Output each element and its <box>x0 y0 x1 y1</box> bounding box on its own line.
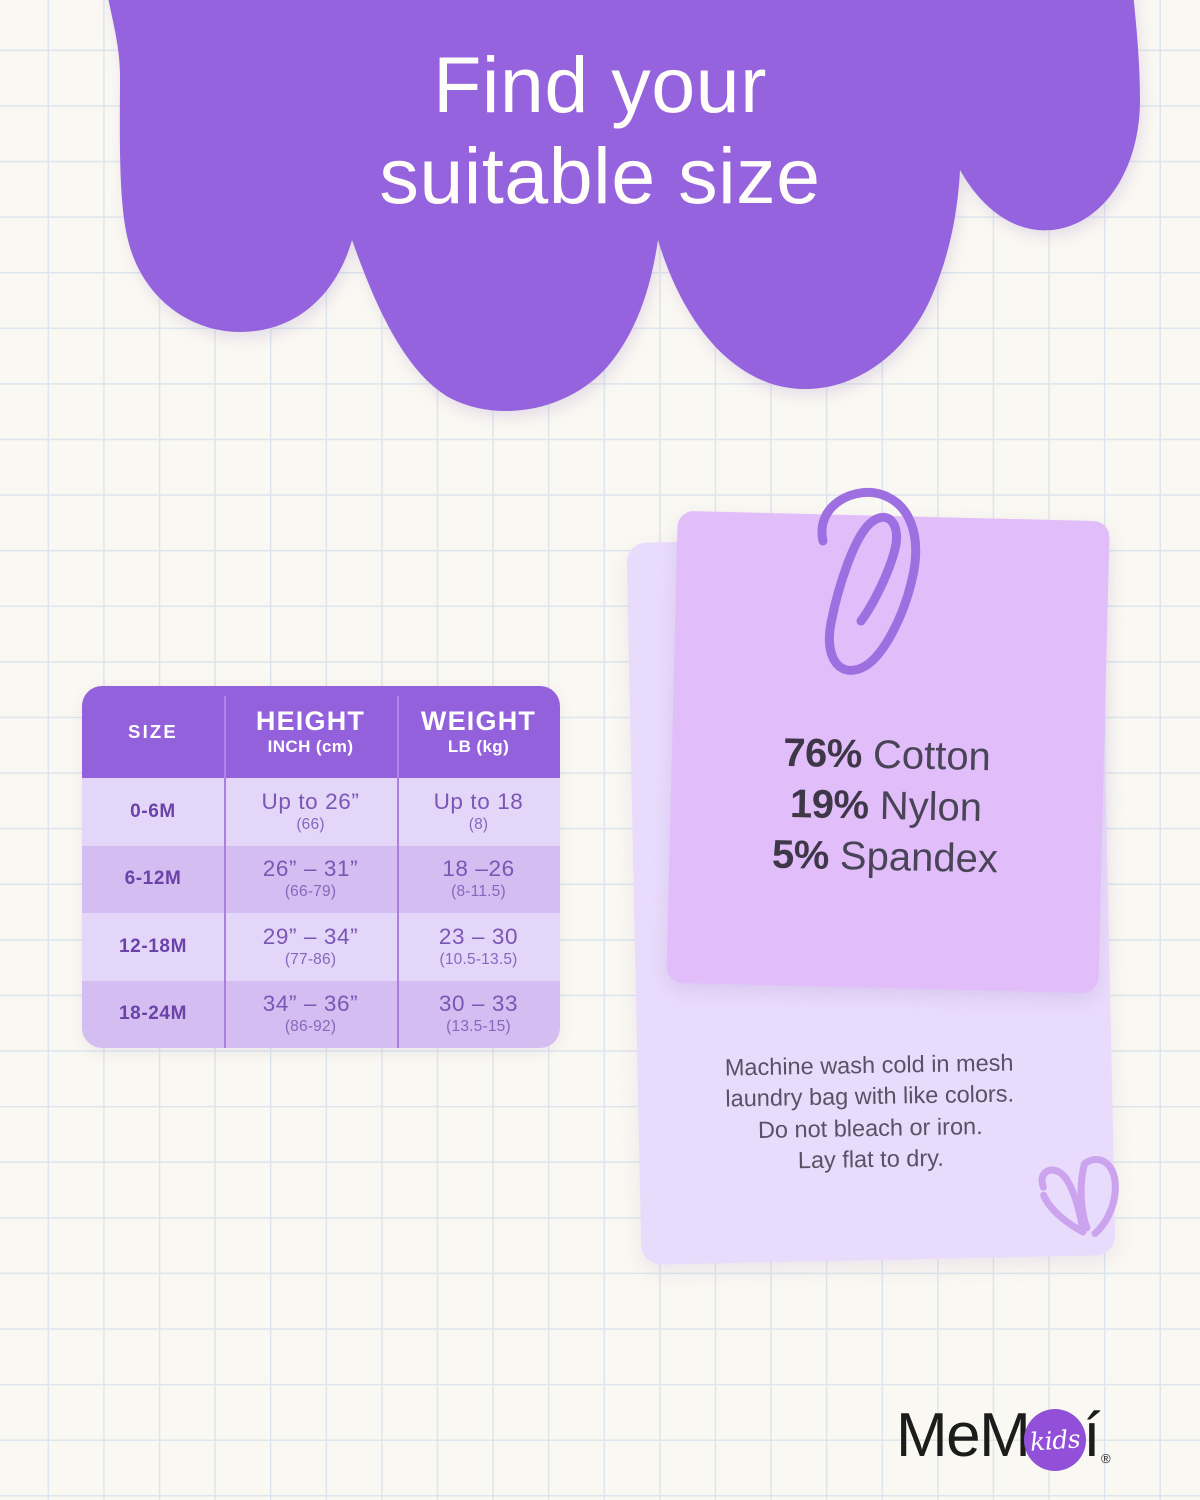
table-cell-height: 29” – 34” (77-86) <box>224 913 397 981</box>
paperclip-icon <box>793 483 963 683</box>
table-header-height-label: HEIGHT <box>256 707 365 735</box>
brand-logo: MeM kids í ® <box>896 1396 1156 1476</box>
page-title-line-1: Find your <box>0 40 1200 131</box>
table-cell-size: 18-24M <box>82 981 224 1049</box>
table-cell-weight: Up to 18 (8) <box>397 778 560 846</box>
page-title-line-2: suitable size <box>0 131 1200 222</box>
table-cell-weight: 30 – 33 (13.5-15) <box>397 981 560 1049</box>
table-cell-height: 34” – 36” (86-92) <box>224 981 397 1049</box>
heart-icon <box>1022 1150 1136 1259</box>
size-chart-table: SIZE HEIGHT INCH (cm) WEIGHT LB (kg) 0-6… <box>82 686 560 1048</box>
fabric-composition: 76% Cotton 19% Nylon 5% Spandex <box>674 726 1097 888</box>
table-cell-size: 0-6M <box>82 778 224 846</box>
table-row: 18-24M 34” – 36” (86-92) 30 – 33 (13.5-1… <box>82 981 560 1049</box>
table-cell-weight: 18 –26 (8-11.5) <box>397 846 560 914</box>
kids-badge: kids <box>1024 1409 1086 1471</box>
registered-trademark-icon: ® <box>1101 1451 1111 1466</box>
table-header-height: HEIGHT INCH (cm) <box>224 686 397 778</box>
fabric-name: Nylon <box>879 784 982 830</box>
fabric-name: Cotton <box>873 733 992 779</box>
table-header-row: SIZE HEIGHT INCH (cm) WEIGHT LB (kg) <box>82 686 560 778</box>
table-cell-weight: 23 – 30 (10.5-13.5) <box>397 913 560 981</box>
kids-badge-label: kids <box>1029 1424 1081 1456</box>
fabric-percent: 5% <box>772 833 830 878</box>
table-row: 6-12M 26” – 31” (66-79) 18 –26 (8-11.5) <box>82 846 560 914</box>
table-row: 12-18M 29” – 34” (77-86) 23 – 30 (10.5-1… <box>82 913 560 981</box>
table-header-weight-unit: LB (kg) <box>448 737 509 757</box>
fabric-name: Spandex <box>839 834 998 881</box>
care-instructions: Machine wash cold in mesh laundry bag wi… <box>659 1046 1081 1178</box>
fabric-line: 19% Nylon <box>676 777 1097 837</box>
table-header-height-unit: INCH (cm) <box>268 737 354 757</box>
page-title: Find your suitable size <box>0 40 1200 222</box>
fabric-line: 5% Spandex <box>674 828 1095 888</box>
table-row: 0-6M Up to 26” (66) Up to 18 (8) <box>82 778 560 846</box>
table-cell-size: 6-12M <box>82 846 224 914</box>
table-cell-height: Up to 26” (66) <box>224 778 397 846</box>
table-cell-height: 26” – 31” (66-79) <box>224 846 397 914</box>
table-header-size-label: SIZE <box>128 721 178 743</box>
table-header-size: SIZE <box>82 686 224 778</box>
fabric-line: 76% Cotton <box>677 726 1098 786</box>
table-header-weight: WEIGHT LB (kg) <box>397 686 560 778</box>
table-header-weight-label: WEIGHT <box>421 707 536 735</box>
brand-name-before: MeM <box>896 1405 1029 1467</box>
table-cell-size: 12-18M <box>82 913 224 981</box>
fabric-percent: 19% <box>790 782 869 828</box>
fabric-percent: 76% <box>783 731 862 777</box>
